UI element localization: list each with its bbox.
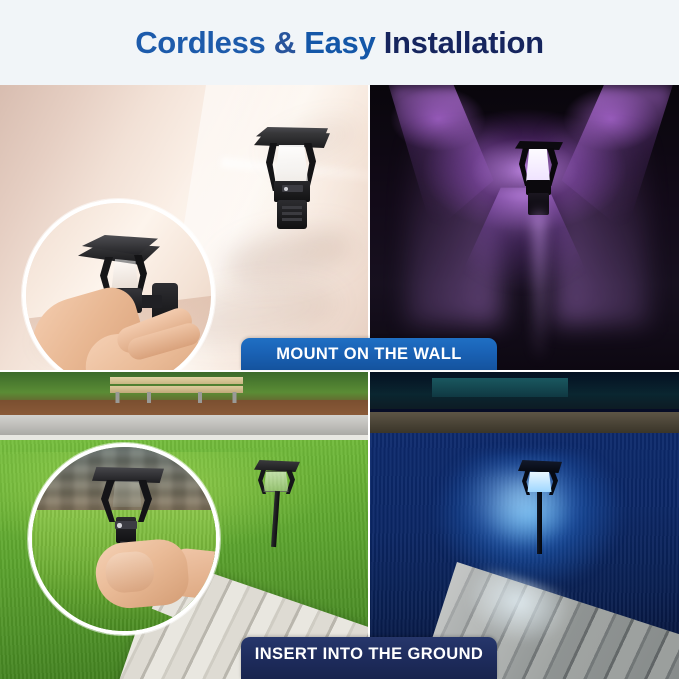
lamp-diffuser bbox=[112, 481, 142, 507]
infographic-page: Cordless & Easy Installation bbox=[0, 0, 679, 679]
solar-path-light-night bbox=[518, 460, 562, 558]
panel-mount-wall-day bbox=[0, 85, 368, 370]
lamp-mount-base bbox=[528, 193, 549, 215]
solar-panel bbox=[254, 460, 300, 472]
title-word-installation: Installation bbox=[384, 25, 544, 60]
title-ampersand: & bbox=[265, 25, 304, 60]
caption-banner-insert-ground: INSERT INTO THE GROUND bbox=[241, 637, 497, 679]
lamp-arm-left bbox=[101, 480, 115, 522]
caption-banner-mount-wall: MOUNT ON THE WALL bbox=[241, 338, 497, 370]
lamp-diffuser-lit bbox=[525, 149, 551, 182]
title-space bbox=[375, 25, 383, 60]
inset-circle-wall-install bbox=[22, 199, 215, 370]
header: Cordless & Easy Installation bbox=[0, 0, 679, 85]
path-light-in-hand bbox=[84, 467, 166, 597]
inset-circle-ground-install bbox=[28, 443, 220, 635]
park-bench-night bbox=[432, 378, 568, 396]
panel-mount-wall-night bbox=[370, 85, 679, 370]
light-stream-down bbox=[533, 213, 545, 363]
solar-panel bbox=[515, 141, 563, 150]
panel-ground-stake-day bbox=[0, 372, 368, 679]
solar-path-light-day bbox=[254, 460, 300, 548]
lamp-diffuser bbox=[263, 471, 289, 492]
background-walkway bbox=[0, 415, 368, 436]
page-title: Cordless & Easy Installation bbox=[135, 27, 544, 58]
panel-divider-vertical bbox=[368, 85, 370, 679]
lamp-diffuser-lit bbox=[527, 472, 552, 492]
brand-logo-icon bbox=[282, 185, 303, 192]
panel-ground-stake-night bbox=[370, 372, 679, 679]
panel-grid bbox=[0, 85, 679, 679]
bench-seat bbox=[110, 377, 242, 384]
park-bench bbox=[110, 375, 242, 403]
solar-panel bbox=[92, 467, 164, 483]
brand-logo-icon bbox=[115, 521, 137, 529]
solar-wall-lamp-day bbox=[252, 118, 332, 233]
solar-wall-lamp-night bbox=[513, 139, 565, 223]
ground-stake-pole bbox=[271, 491, 280, 547]
panel-divider-horizontal bbox=[0, 370, 679, 372]
title-word-cordless: Cordless bbox=[135, 25, 265, 60]
title-word-easy: Easy bbox=[304, 25, 375, 60]
solar-panel bbox=[518, 460, 562, 473]
bench-legs bbox=[110, 392, 242, 402]
ground-stake-pole bbox=[537, 492, 542, 554]
lamp-mount-base bbox=[277, 200, 307, 229]
background-walkway-night bbox=[370, 412, 679, 433]
hand-fist-gripping-stake bbox=[93, 537, 190, 611]
